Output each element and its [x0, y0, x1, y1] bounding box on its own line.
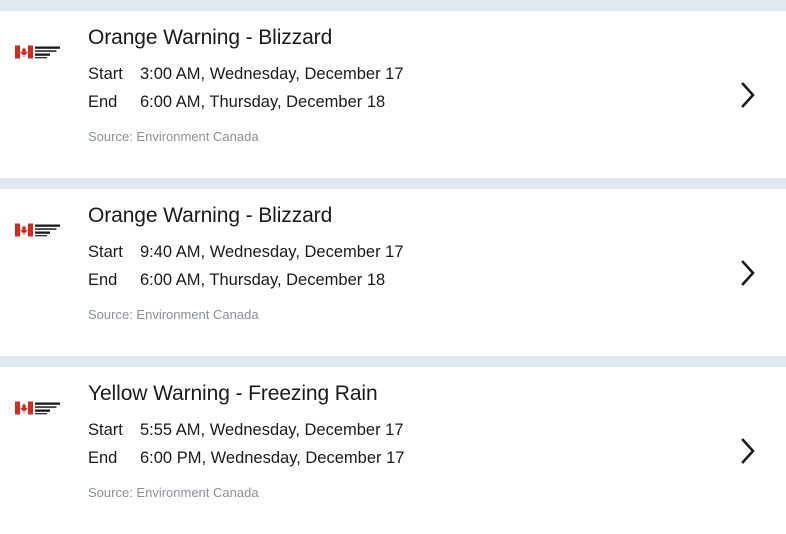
end-label: End [88, 444, 140, 472]
alert-source-text: Source: Environment Canada [88, 306, 710, 324]
alert-content: Yellow Warning - Freezing Rain Start 5:5… [88, 367, 710, 502]
alert-title: Orange Warning - Blizzard [88, 201, 710, 231]
start-label: Start [88, 238, 140, 266]
alert-end-line: End 6:00 PM, Wednesday, December 17 [88, 444, 710, 472]
alert-source-logo [0, 367, 88, 417]
alert-source-text: Source: Environment Canada [88, 484, 710, 502]
weather-alerts-list: Orange Warning - Blizzard Start 3:00 AM,… [0, 0, 786, 526]
chevron-right-icon [740, 438, 756, 464]
alert-source-logo [0, 11, 88, 61]
environment-canada-logo [15, 44, 73, 61]
alert-row[interactable]: Orange Warning - Blizzard Start 9:40 AM,… [0, 189, 786, 356]
environment-canada-logo [15, 400, 73, 417]
alert-start-value: 5:55 AM, Wednesday, December 17 [140, 416, 404, 444]
alert-start-value: 3:00 AM, Wednesday, December 17 [140, 60, 404, 88]
alert-row[interactable]: Yellow Warning - Freezing Rain Start 5:5… [0, 367, 786, 534]
alert-start-line: Start 9:40 AM, Wednesday, December 17 [88, 238, 710, 266]
alert-content: Orange Warning - Blizzard Start 9:40 AM,… [88, 189, 710, 324]
alert-source-logo [0, 189, 88, 239]
divider-band-top [0, 0, 786, 11]
alert-open-button[interactable] [710, 11, 786, 178]
chevron-right-icon [740, 260, 756, 286]
alert-start-line: Start 3:00 AM, Wednesday, December 17 [88, 60, 710, 88]
start-label: Start [88, 416, 140, 444]
start-label: Start [88, 60, 140, 88]
alert-end-value: 6:00 AM, Thursday, December 18 [140, 266, 385, 294]
alert-end-line: End 6:00 AM, Thursday, December 18 [88, 266, 710, 294]
end-label: End [88, 266, 140, 294]
alert-end-value: 6:00 AM, Thursday, December 18 [140, 88, 385, 116]
divider-band [0, 178, 786, 189]
chevron-right-icon [740, 82, 756, 108]
alert-open-button[interactable] [710, 367, 786, 534]
alert-title: Yellow Warning - Freezing Rain [88, 379, 710, 409]
alert-source-text: Source: Environment Canada [88, 128, 710, 146]
alert-start-line: Start 5:55 AM, Wednesday, December 17 [88, 416, 710, 444]
alert-content: Orange Warning - Blizzard Start 3:00 AM,… [88, 11, 710, 146]
alert-open-button[interactable] [710, 189, 786, 356]
environment-canada-logo [15, 222, 73, 239]
alert-row[interactable]: Orange Warning - Blizzard Start 3:00 AM,… [0, 11, 786, 178]
end-label: End [88, 88, 140, 116]
alert-title: Orange Warning - Blizzard [88, 23, 710, 53]
alert-end-value: 6:00 PM, Wednesday, December 17 [140, 444, 404, 472]
alert-start-value: 9:40 AM, Wednesday, December 17 [140, 238, 404, 266]
alert-end-line: End 6:00 AM, Thursday, December 18 [88, 88, 710, 116]
divider-band [0, 356, 786, 367]
